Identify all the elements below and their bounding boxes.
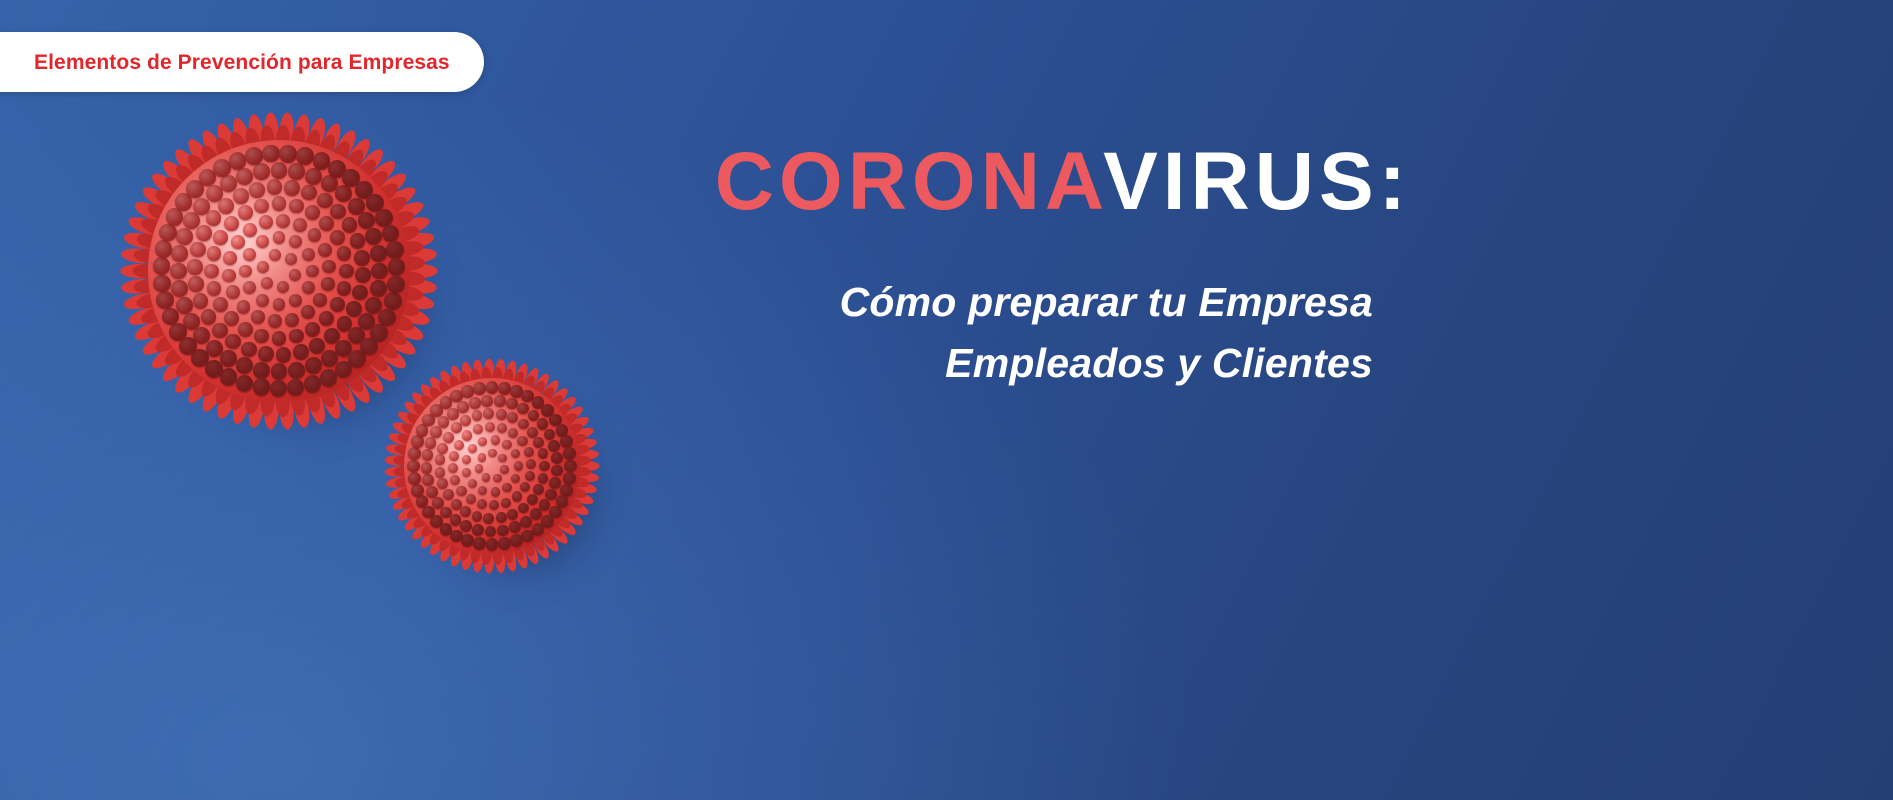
- subtitle-block: Cómo preparar tu Empresa Empleados y Cli…: [473, 272, 1373, 393]
- title-word-virus: VIRUS:: [1103, 136, 1411, 227]
- virus-surface-bumps: [404, 378, 580, 554]
- title-word-corona: CORONA: [715, 136, 1103, 227]
- virus-surface-bumps: [148, 140, 410, 402]
- headline-block: CORONAVIRUS:: [511, 140, 1411, 224]
- prevention-badge-label: Elementos de Prevención para Empresas: [34, 52, 450, 73]
- subtitle-line-1: Cómo preparar tu Empresa: [473, 272, 1373, 333]
- subtitle-line-2: Empleados y Clientes: [473, 333, 1373, 394]
- coronavirus-prevention-banner: Elementos de Prevención para Empresas CO…: [0, 0, 1893, 800]
- virus-particle-large: [148, 140, 410, 402]
- page-title: CORONAVIRUS:: [511, 140, 1411, 224]
- prevention-badge[interactable]: Elementos de Prevención para Empresas: [0, 32, 484, 92]
- virus-particle-small: [404, 378, 580, 554]
